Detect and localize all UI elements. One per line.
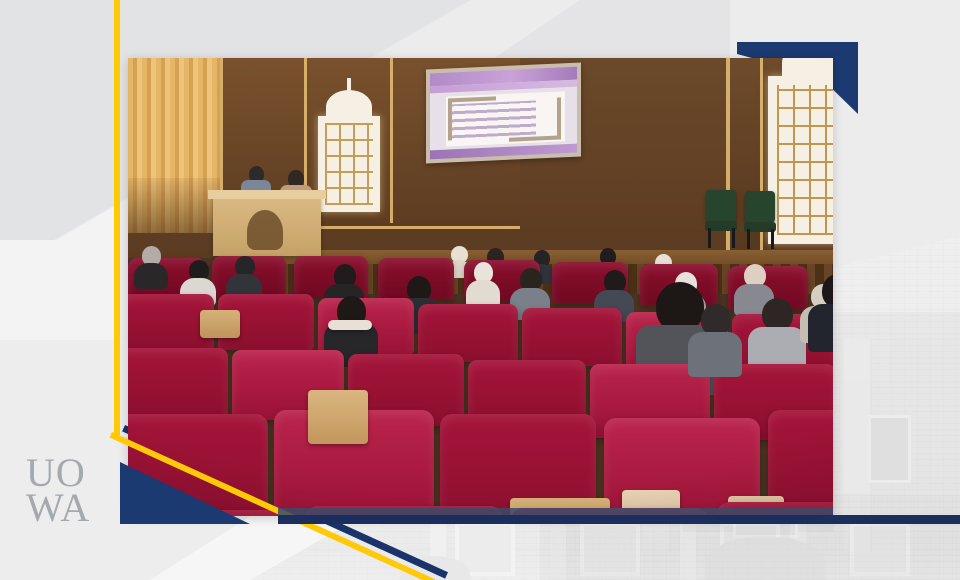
logo-line-2: WA: [26, 490, 90, 525]
navy-bar-primary: [278, 515, 960, 524]
poster-canvas: UO WA: [0, 0, 960, 580]
event-photo: [128, 58, 833, 516]
yellow-accent-vertical: [114, 0, 120, 438]
uowa-logo: UO WA: [26, 455, 90, 525]
